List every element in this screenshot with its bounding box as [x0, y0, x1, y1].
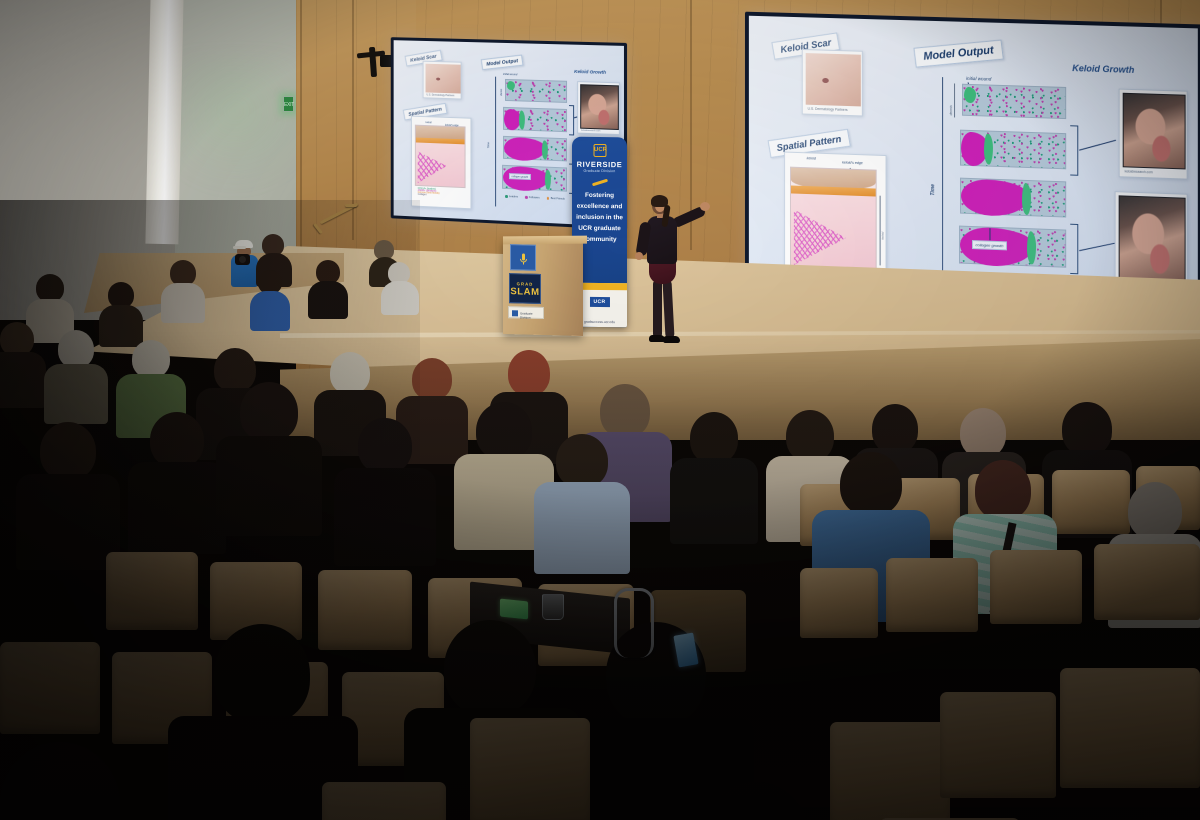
ear-photo-caption-1: keloidresearch.com — [1125, 169, 1153, 174]
keloid-ear-photo-1 — [1123, 93, 1186, 170]
seat[interactable] — [886, 558, 978, 632]
seat[interactable] — [470, 718, 590, 820]
ear-photo-caption-1: keloidresearch.com — [581, 130, 600, 133]
banner-division-text: Graduate Division — [572, 169, 627, 174]
spatial-pattern-card: keloid keloid's edge COL1A+ (leaders) AS… — [411, 116, 471, 210]
keloid-annotation: keloid — [426, 121, 432, 124]
seat[interactable] — [800, 568, 878, 638]
tissue-strip-t1 — [505, 79, 567, 103]
ucr-logo-icon: UCR — [593, 144, 606, 157]
legend-followers: Followers — [529, 196, 540, 200]
collagen-growth-annotation: collagen growth — [509, 173, 531, 180]
seat[interactable] — [940, 692, 1056, 798]
ear-photo-card-1: keloidresearch.com — [577, 81, 620, 135]
dermis-axis — [954, 83, 955, 117]
time-axis-label: Time — [486, 142, 490, 148]
seat[interactable] — [0, 642, 100, 734]
tissue-strip-t1 — [962, 84, 1066, 119]
water-glass — [542, 594, 564, 620]
exit-sign: EXIT — [283, 96, 294, 112]
wall-handrail-end — [345, 204, 357, 207]
tissue-strip-t3 — [960, 178, 1066, 218]
keloid-edge-annotation: keloid's edge — [842, 161, 863, 166]
seat[interactable] — [322, 782, 446, 820]
audience-area — [0, 222, 1200, 820]
legend-leaders: Leaders — [509, 195, 518, 198]
keloid-annotation: keloid — [807, 156, 816, 160]
seat[interactable] — [1052, 470, 1130, 534]
phone-with-green-case[interactable] — [500, 599, 528, 620]
model-output-legend: Leaders Followers Best Friends — [505, 195, 565, 201]
keloid-scar-photo-card: U.S. Dermatology Partners — [802, 49, 863, 116]
time-axis-label: Time — [930, 184, 936, 196]
presenter-right-hand — [700, 202, 710, 211]
ear-photo-card-1: keloidresearch.com — [1119, 89, 1188, 180]
model-output-heading: Model Output — [913, 40, 1003, 68]
keloid-ear-photo-1 — [580, 84, 619, 130]
tissue-strip-t2 — [960, 130, 1066, 170]
aisle-handrail — [614, 588, 654, 658]
model-output-heading: Model Output — [481, 55, 524, 71]
tissue-strip-t3 — [503, 136, 567, 162]
time-axis — [495, 77, 496, 207]
keloid-scar-photo — [426, 64, 461, 94]
keloid-growth-heading: Keloid Growth — [1072, 63, 1134, 75]
seat[interactable] — [830, 722, 950, 820]
keloid-scar-caption: U.S. Dermatology Partners — [808, 107, 848, 112]
keloid-growth-heading: Keloid Growth — [574, 69, 606, 75]
seat[interactable] — [1094, 544, 1200, 620]
keloid-scar-photo-card: U.S. Dermatology Partners — [423, 61, 462, 100]
wood-seam — [300, 0, 302, 250]
initial-wound-annotation: initial wound — [966, 76, 991, 82]
seat[interactable] — [1060, 668, 1200, 788]
keloid-scar-photo — [806, 53, 861, 106]
seat[interactable] — [318, 570, 412, 650]
seat[interactable] — [990, 550, 1082, 624]
keloid-scar-caption: U.S. Dermatology Partners — [427, 93, 455, 97]
banner-swoosh-icon — [591, 179, 607, 187]
seat[interactable] — [106, 552, 198, 630]
skin-cross-section — [415, 125, 466, 188]
legend-best-friends: Best Friends — [551, 197, 565, 201]
lecture-hall-scene: EXIT Keloid Scar U.S. Dermatology Partne… — [0, 0, 1200, 820]
initial-wound-annotation: initial wound — [503, 73, 517, 76]
dermis-axis-label: dermis — [501, 89, 503, 96]
keloid-edge-annotation: keloid's edge — [445, 124, 459, 127]
structural-column — [145, 0, 183, 244]
tissue-strip-t2 — [503, 107, 567, 132]
dermis-axis-label: dermis — [949, 105, 953, 115]
